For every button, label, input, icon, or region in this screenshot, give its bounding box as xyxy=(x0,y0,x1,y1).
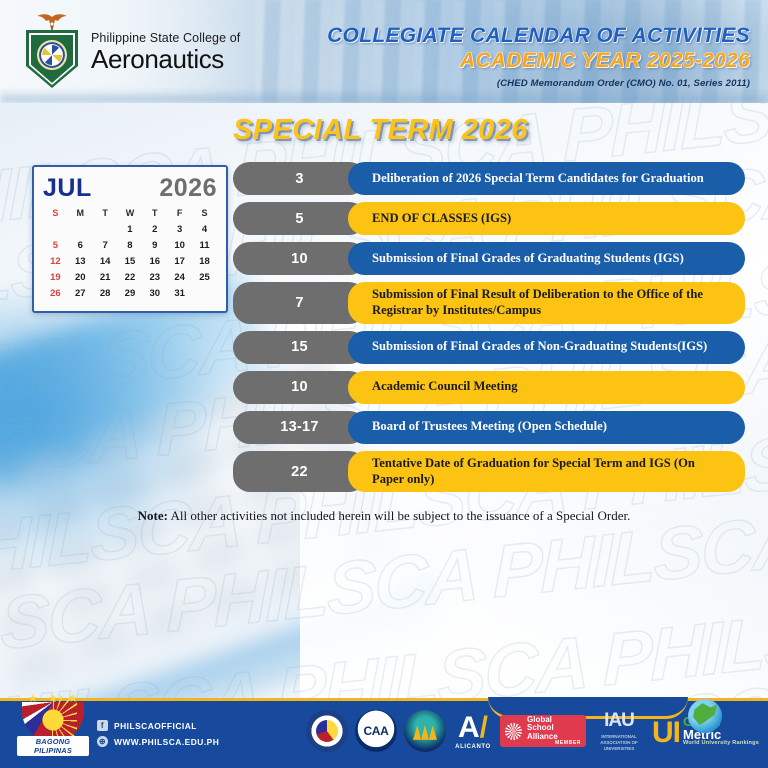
calendar-day-cell xyxy=(93,221,118,237)
calendar-body: 1234567891011121314151617181920212223242… xyxy=(43,221,217,302)
header-title-line2: ACADEMIC YEAR 2025-2026 xyxy=(327,49,750,73)
activity-row: 15Submission of Final Grades of Non-Grad… xyxy=(233,331,745,364)
note-label: Note: xyxy=(138,508,168,523)
poster-canvas: PHILSCA PHILSCA PHILSCA PHILSCA PHILSCA … xyxy=(0,0,768,768)
aacup-logo xyxy=(404,706,446,756)
footer-facebook[interactable]: f PHILSCAOFFICIAL xyxy=(97,720,219,731)
activity-row: 13-17Board of Trustees Meeting (Open Sch… xyxy=(233,411,745,444)
calendar-weekday: S xyxy=(43,206,68,221)
calendar-day-cell[interactable]: 27 xyxy=(68,286,93,302)
header-title-line1: COLLEGIATE CALENDAR OF ACTIVITIES xyxy=(327,24,750,48)
activity-description-pill: Deliberation of 2026 Special Term Candid… xyxy=(348,162,745,195)
activity-row: 5END OF CLASSES (IGS) xyxy=(233,202,745,235)
calendar-week-row: 19202122232425 xyxy=(43,270,217,286)
calendar-weekday: S xyxy=(192,206,217,221)
calendar-week-row: 1234 xyxy=(43,221,217,237)
calendar-week-row: 567891011 xyxy=(43,237,217,253)
activity-row: 10Academic Council Meeting xyxy=(233,371,745,404)
iau-caption: INTERNATIONAL ASSOCIATION OF UNIVERSITIE… xyxy=(593,734,645,752)
alicanto-logo: A/ ALICANTO xyxy=(453,706,493,756)
activity-description-pill: END OF CLASSES (IGS) xyxy=(348,202,745,235)
calendar-day-cell[interactable]: 24 xyxy=(167,270,192,286)
philsca-crest-icon xyxy=(20,14,82,90)
calendar-day-cell[interactable]: 17 xyxy=(167,253,192,269)
bagong-pilipinas-label: BAGONG PILIPINAS xyxy=(17,736,89,756)
iau-mark: IAU xyxy=(593,710,645,732)
calendar-day-cell[interactable]: 29 xyxy=(118,286,143,302)
gsa-line2: School Alliance xyxy=(527,724,581,741)
calendar-day-cell[interactable]: 15 xyxy=(118,253,143,269)
calendar-year: 2026 xyxy=(159,174,217,203)
bagong-pilipinas-logo: ★★★ BAGONG PILIPINAS xyxy=(16,690,90,764)
bagong-pilipinas-sun-icon xyxy=(37,704,69,736)
background-blue-wash xyxy=(0,300,260,600)
activity-date-pill: 3 xyxy=(233,162,366,195)
activity-description-pill: Submission of Final Grades of Graduating… xyxy=(348,242,745,275)
activity-description-pill: Submission of Final Result of Deliberati… xyxy=(348,282,745,324)
calendar-day-cell[interactable]: 10 xyxy=(167,237,192,253)
calendar-day-cell[interactable]: 23 xyxy=(142,270,167,286)
activity-row: 7Submission of Final Result of Deliberat… xyxy=(233,282,745,324)
philsca-logo-text: Philippine State College of Aeronautics xyxy=(91,32,240,72)
ched-logo xyxy=(306,706,348,756)
calendar-day-cell xyxy=(43,221,68,237)
footer-partner-logos: CAA A/ ALICANTO Global School Alliance M… xyxy=(306,706,760,756)
gsa-line3: MEMBER xyxy=(527,741,581,746)
calendar-weekday: T xyxy=(142,206,167,221)
calendar-day-cell[interactable]: 11 xyxy=(192,237,217,253)
section-title: SPECIAL TERM 2026 xyxy=(233,114,528,147)
calendar-day-cell[interactable]: 13 xyxy=(68,253,93,269)
calendar-day-cell[interactable]: 3 xyxy=(167,221,192,237)
calendar-weekday: T xyxy=(93,206,118,221)
banner-bottom-edge xyxy=(0,89,768,103)
calendar-day-cell[interactable]: 6 xyxy=(68,237,93,253)
calendar-day-cell[interactable]: 18 xyxy=(192,253,217,269)
calendar-week-row: 262728293031 xyxy=(43,286,217,302)
calendar-day-cell[interactable]: 30 xyxy=(142,286,167,302)
calendar-day-cell[interactable]: 7 xyxy=(93,237,118,253)
philsca-logo-line1: Philippine State College of xyxy=(91,32,240,45)
globe-icon: ⊕ xyxy=(97,736,108,747)
calendar-day-cell[interactable]: 2 xyxy=(142,221,167,237)
facebook-icon: f xyxy=(97,720,108,731)
activity-date-pill: 22 xyxy=(233,451,366,493)
caa-logo-label: CAA xyxy=(363,724,388,738)
activity-date-pill: 7 xyxy=(233,282,366,324)
alicanto-mark-icon: A/ xyxy=(453,713,493,743)
activity-date-pill: 10 xyxy=(233,371,366,404)
calendar-day-cell xyxy=(68,221,93,237)
alicanto-label: ALICANTO xyxy=(453,744,493,750)
greenmetric-globe-icon xyxy=(688,699,722,733)
activity-row: 3Deliberation of 2026 Special Term Candi… xyxy=(233,162,745,195)
calendar-day-cell[interactable]: 28 xyxy=(93,286,118,302)
calendar-day-cell[interactable]: 31 xyxy=(167,286,192,302)
gsa-swirl-icon xyxy=(505,723,522,740)
caa-logo: CAA xyxy=(355,706,397,756)
calendar-day-cell[interactable]: 25 xyxy=(192,270,217,286)
activity-row: 22Tentative Date of Graduation for Speci… xyxy=(233,451,745,493)
footer-facebook-handle: PHILSCAOFFICIAL xyxy=(114,721,197,731)
activity-row: 10Submission of Final Grades of Graduati… xyxy=(233,242,745,275)
calendar-weekday: M xyxy=(68,206,93,221)
footer-contact-block: f PHILSCAOFFICIAL ⊕ WWW.PHILSCA.EDU.PH xyxy=(97,720,219,747)
calendar-header: JUL 2026 xyxy=(43,174,217,203)
activity-description-pill: Academic Council Meeting xyxy=(348,371,745,404)
activity-date-pill: 15 xyxy=(233,331,366,364)
calendar-day-cell[interactable]: 20 xyxy=(68,270,93,286)
greenmetric-tagline: World University Rankings xyxy=(683,741,759,747)
calendar-day-cell[interactable]: 14 xyxy=(93,253,118,269)
calendar-day-cell[interactable]: 12 xyxy=(43,253,68,269)
calendar-week-row: 12131415161718 xyxy=(43,253,217,269)
header-subtitle: (CHED Memorandum Order (CMO) No. 01, Ser… xyxy=(327,78,750,89)
calendar-day-cell xyxy=(192,286,217,302)
philsca-logo-lockup: Philippine State College of Aeronautics xyxy=(20,14,240,90)
activity-description-pill: Board of Trustees Meeting (Open Schedule… xyxy=(348,411,745,444)
global-school-alliance-logo: Global School Alliance MEMBER xyxy=(500,706,586,756)
philsca-logo-line2: Aeronautics xyxy=(91,46,240,72)
calendar-day-cell[interactable]: 26 xyxy=(43,286,68,302)
calendar-day-cell[interactable]: 19 xyxy=(43,270,68,286)
calendar-day-cell[interactable]: 22 xyxy=(118,270,143,286)
calendar-day-cell[interactable]: 16 xyxy=(142,253,167,269)
calendar-day-cell[interactable]: 21 xyxy=(93,270,118,286)
calendar-grid: SMTWTFS 12345678910111213141516171819202… xyxy=(43,206,217,302)
calendar-month: JUL xyxy=(43,174,92,203)
footer-bar: ★★★ BAGONG PILIPINAS f PHILSCAOFFICIAL ⊕… xyxy=(0,698,768,768)
calendar-day-cell[interactable]: 1 xyxy=(118,221,143,237)
calendar-weekday-row: SMTWTFS xyxy=(43,206,217,221)
calendar-weekday: F xyxy=(167,206,192,221)
calendar-day-cell[interactable]: 5 xyxy=(43,237,68,253)
iau-logo: IAU INTERNATIONAL ASSOCIATION OF UNIVERS… xyxy=(593,706,645,756)
activity-date-pill: 13-17 xyxy=(233,411,366,444)
note-text: All other activities not included herein… xyxy=(168,508,630,523)
header-title-block: COLLEGIATE CALENDAR OF ACTIVITIES ACADEM… xyxy=(327,24,750,89)
activity-date-pill: 10 xyxy=(233,242,366,275)
note-line: Note: All other activities not included … xyxy=(138,508,631,524)
ui-mark: UI xyxy=(652,719,680,747)
calendar-day-cell[interactable]: 8 xyxy=(118,237,143,253)
calendar-weekday: W xyxy=(118,206,143,221)
activity-description-pill: Submission of Final Grades of Non-Gradua… xyxy=(348,331,745,364)
ui-greenmetric-logo: UI Green Metric World University Ranking… xyxy=(652,706,760,756)
calendar-day-cell[interactable]: 4 xyxy=(192,221,217,237)
calendar-widget: JUL 2026 SMTWTFS 12345678910111213141516… xyxy=(32,165,228,313)
calendar-day-cell[interactable]: 9 xyxy=(142,237,167,253)
activity-description-pill: Tentative Date of Graduation for Special… xyxy=(348,451,745,493)
activity-list: 3Deliberation of 2026 Special Term Candi… xyxy=(233,162,745,499)
footer-website-url: WWW.PHILSCA.EDU.PH xyxy=(114,737,219,747)
footer-website[interactable]: ⊕ WWW.PHILSCA.EDU.PH xyxy=(97,736,219,747)
activity-date-pill: 5 xyxy=(233,202,366,235)
